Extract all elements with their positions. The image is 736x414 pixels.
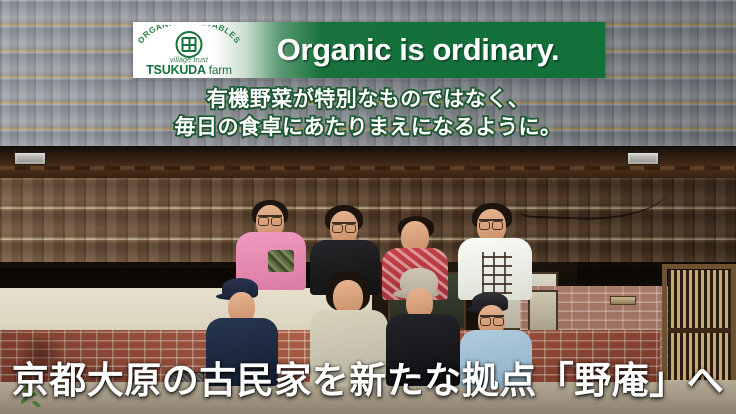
logo-brand-name-light: farm — [209, 63, 232, 77]
logo-brand-name: TSUKUDA farm — [133, 63, 245, 77]
banner-tagline: Organic is ordinary. — [245, 32, 605, 68]
brand-banner: ORGANIC VEGETABLES village trust TSUKUDA… — [133, 22, 605, 78]
logo-brand-name-bold: TSUKUDA — [146, 63, 205, 77]
field-grid-circle-icon — [176, 31, 203, 58]
tsukuda-farm-logo: ORGANIC VEGETABLES village trust TSUKUDA… — [133, 22, 245, 78]
promotional-banner-image: ORGANIC VEGETABLES village trust TSUKUDA… — [0, 0, 736, 414]
